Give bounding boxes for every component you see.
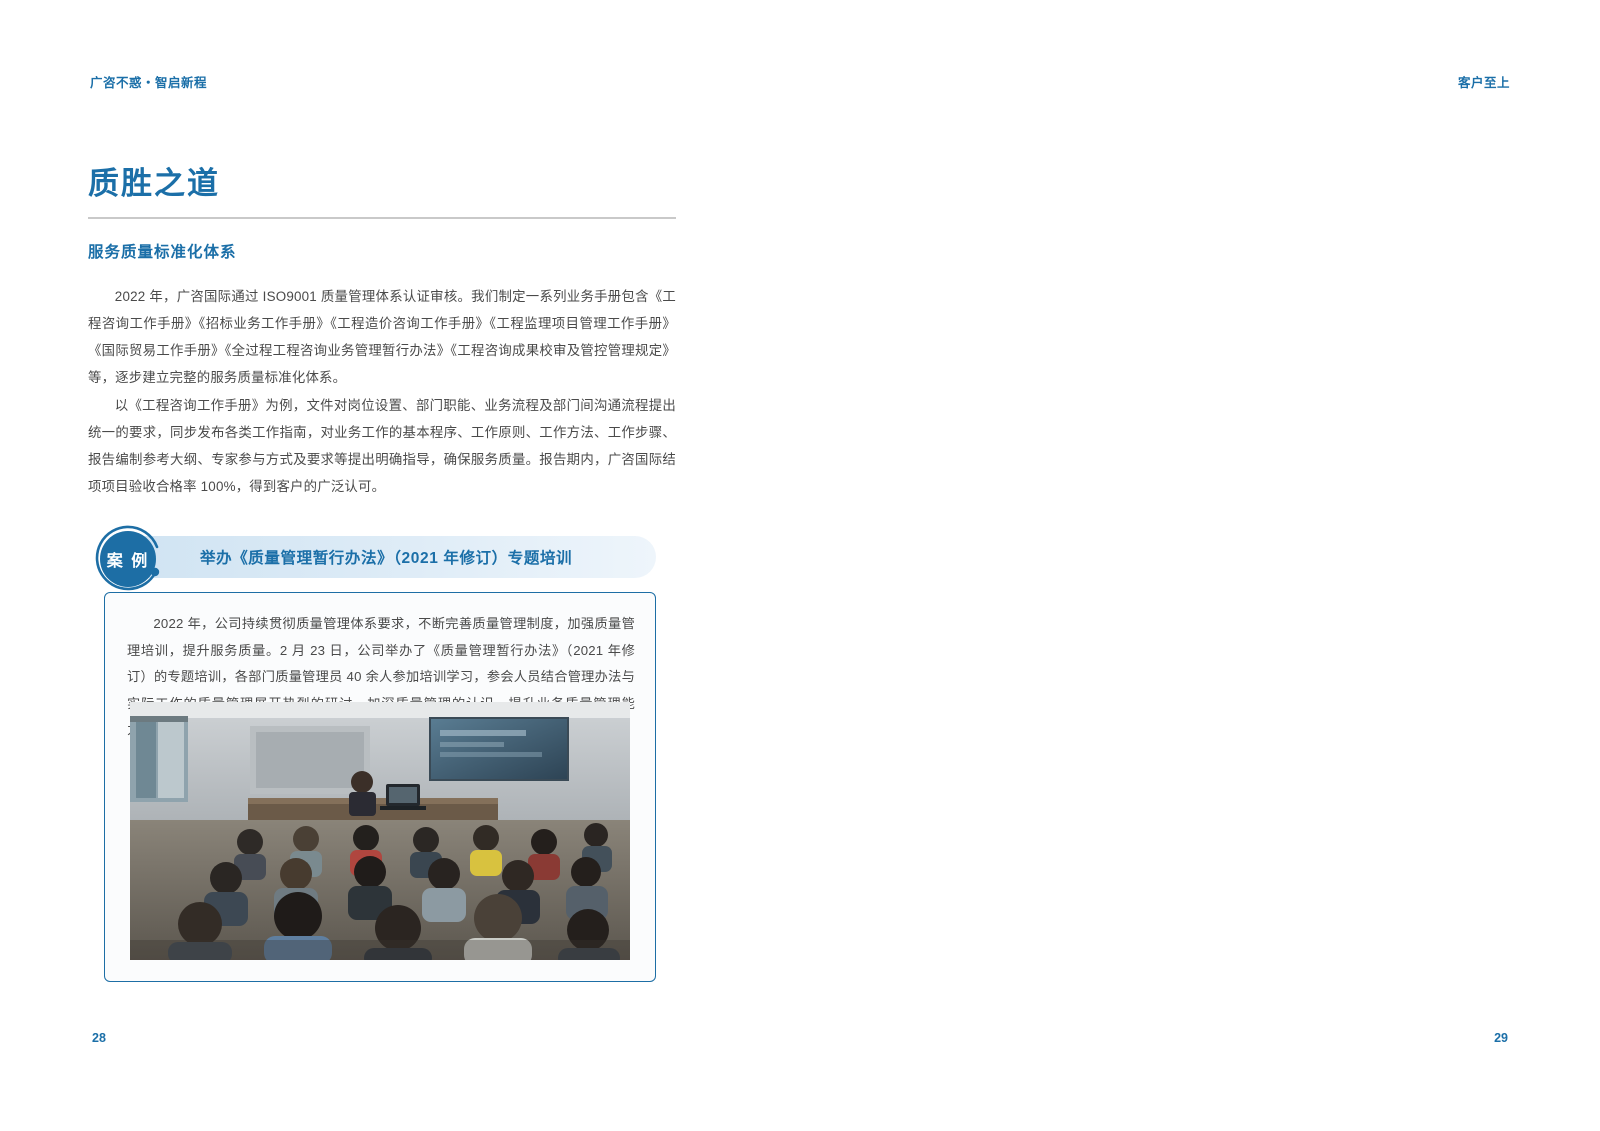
page-title: 质胜之道 — [88, 158, 220, 203]
running-head-left: 广咨不惑・智启新程 — [90, 72, 207, 91]
case-badge-label: 案 例 — [100, 531, 156, 587]
case-photo — [130, 702, 630, 960]
page-right: 客户至上 2022 年，广咨国际在服务质量方面获得的奖项如下 序号 获奖证书名称… — [800, 0, 1600, 1131]
title-divider — [88, 217, 676, 219]
page-spread: 广咨不惑・智启新程 质胜之道 服务质量标准化体系 2022 年，广咨国际通过 I… — [0, 0, 1600, 1131]
section-heading: 服务质量标准化体系 — [88, 240, 237, 262]
page-number-right: 29 — [1494, 1031, 1508, 1045]
case-badge: 案 例 — [92, 522, 164, 594]
body-paragraph-1: 2022 年，广咨国际通过 ISO9001 质量管理体系认证审核。我们制定一系列… — [88, 283, 676, 391]
page-left: 广咨不惑・智启新程 质胜之道 服务质量标准化体系 2022 年，广咨国际通过 I… — [0, 0, 800, 1131]
running-head-right: 客户至上 — [1458, 72, 1510, 91]
page-number-left: 28 — [92, 1031, 106, 1045]
body-paragraph-2: 以《工程咨询工作手册》为例，文件对岗位设置、部门职能、业务流程及部门间沟通流程提… — [88, 392, 676, 500]
case-banner-title: 举办《质量管理暂行办法》（2021 年修订）专题培训 — [200, 546, 572, 568]
training-room-photo — [130, 702, 630, 960]
